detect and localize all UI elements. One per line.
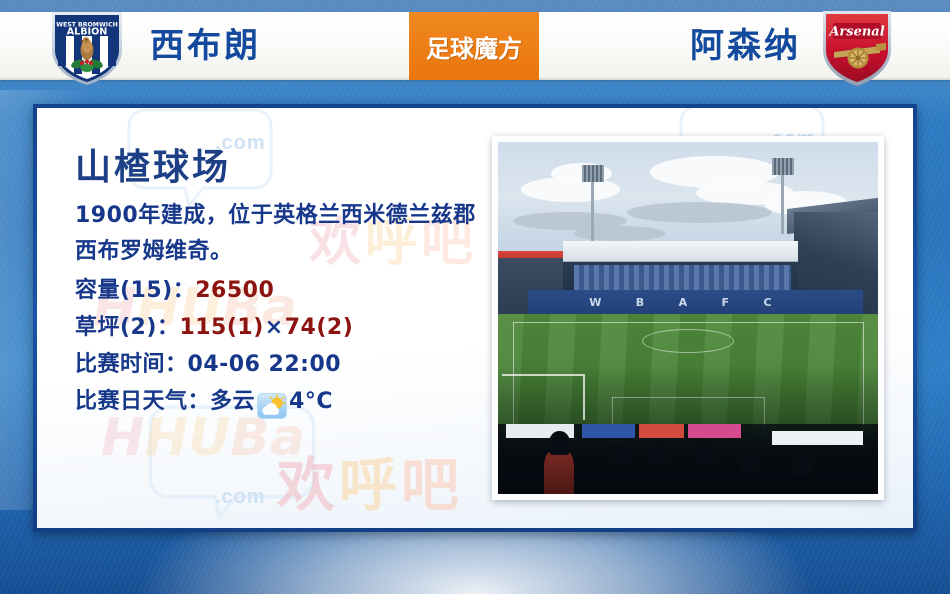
capacity-value: 26500 bbox=[195, 272, 274, 309]
match-header: WEST BROMWICH ALBION 西布朗 bbox=[0, 0, 950, 94]
svg-text:ALBION: ALBION bbox=[67, 27, 108, 38]
pitch-size-label: 草坪(2) bbox=[75, 309, 157, 346]
watermark-cn-3: 吧 bbox=[401, 451, 463, 519]
pitch-width-value: 74(2) bbox=[285, 309, 354, 346]
capacity-label: 容量(15) bbox=[75, 272, 173, 309]
spectator-head bbox=[549, 431, 570, 456]
away-team-name: 阿森纳 bbox=[690, 24, 801, 68]
cloud bbox=[627, 202, 771, 223]
pitch-length-value: 115(1) bbox=[179, 309, 263, 346]
west-bromwich-albion-crest: WEST BROMWICH ALBION bbox=[46, 6, 128, 88]
match-weather-separator: ： bbox=[188, 383, 211, 420]
advert-board bbox=[688, 424, 741, 438]
seat-letter: F bbox=[722, 296, 730, 309]
cloud bbox=[574, 226, 665, 240]
advert-board bbox=[639, 424, 685, 438]
site-logo[interactable]: 足球魔方 bbox=[409, 12, 539, 80]
floodlight-left bbox=[591, 181, 594, 244]
spectator-head bbox=[696, 441, 716, 466]
match-temperature: 4°C bbox=[289, 383, 333, 420]
match-weather-label: 比赛日天气 bbox=[75, 383, 188, 420]
home-team-name: 西布朗 bbox=[150, 24, 261, 68]
wba-seat-lettering: W B A F C bbox=[589, 292, 771, 313]
spectator-head bbox=[741, 454, 758, 473]
stadium-info: 山楂球场 1900年建成，位于英格兰西米德兰兹郡西布罗姆维奇。 容量(15)：2… bbox=[75, 144, 495, 420]
seat-letter: C bbox=[764, 296, 772, 309]
spectator-head bbox=[794, 457, 811, 476]
capacity-row: 容量(15)：26500 bbox=[75, 272, 495, 309]
advert-board bbox=[582, 424, 635, 438]
watermark-domain-3: .com bbox=[215, 486, 266, 509]
pitch-size-row: 草坪(2)：115(1)×74(2) bbox=[75, 309, 495, 346]
match-time-row: 比赛时间：04-06 22:00 bbox=[75, 346, 495, 383]
seat-letter: B bbox=[636, 296, 644, 309]
watermark-brand-cn: 欢呼吧 bbox=[277, 438, 463, 522]
watermark-cn-2: 呼 bbox=[339, 451, 401, 519]
spectator-head bbox=[650, 441, 667, 462]
site-logo-text: 足球魔方 bbox=[426, 29, 522, 64]
pitch-line bbox=[513, 322, 863, 323]
seat-letter: W bbox=[589, 296, 601, 309]
stadium-title: 山楂球场 bbox=[75, 144, 495, 192]
spectator-head bbox=[612, 443, 631, 466]
arsenal-crest: Arsenal bbox=[816, 6, 898, 88]
seat-letter: A bbox=[679, 296, 688, 309]
capacity-separator: ： bbox=[173, 272, 196, 309]
goal-frame bbox=[502, 374, 586, 420]
match-time-label: 比赛时间 bbox=[75, 346, 165, 383]
center-circle bbox=[642, 329, 733, 354]
watermark-cn-1: 欢 bbox=[277, 451, 339, 519]
pitch-size-multiply-sign: × bbox=[264, 309, 285, 346]
match-time-separator: ： bbox=[165, 346, 188, 383]
match-weather-condition: 多云 bbox=[210, 383, 255, 420]
spectator-red-shirt bbox=[544, 448, 574, 494]
pitch-size-separator: ： bbox=[157, 309, 180, 346]
stadium-card-inner: .com .com .com HHUBa HHUBa 欢呼吧 欢呼吧 山楂球场 bbox=[37, 108, 913, 528]
partly-cloudy-icon bbox=[257, 393, 287, 419]
stadium-photo-frame[interactable]: W B A F C bbox=[492, 136, 884, 500]
stand-main-roof bbox=[563, 241, 799, 262]
stadium-description: 1900年建成，位于英格兰西米德兰兹郡西布罗姆维奇。 bbox=[75, 198, 495, 270]
stadium-photo: W B A F C bbox=[498, 142, 878, 494]
advert-board bbox=[772, 431, 863, 445]
match-time-value: 04-06 22:00 bbox=[188, 346, 342, 383]
match-weather-row: 比赛日天气：多云 4°C bbox=[75, 383, 495, 420]
stadium-card: .com .com .com HHUBa HHUBa 欢呼吧 欢呼吧 山楂球场 bbox=[33, 104, 917, 532]
svg-text:Arsenal: Arsenal bbox=[827, 25, 884, 40]
floodlight-right bbox=[781, 174, 784, 234]
